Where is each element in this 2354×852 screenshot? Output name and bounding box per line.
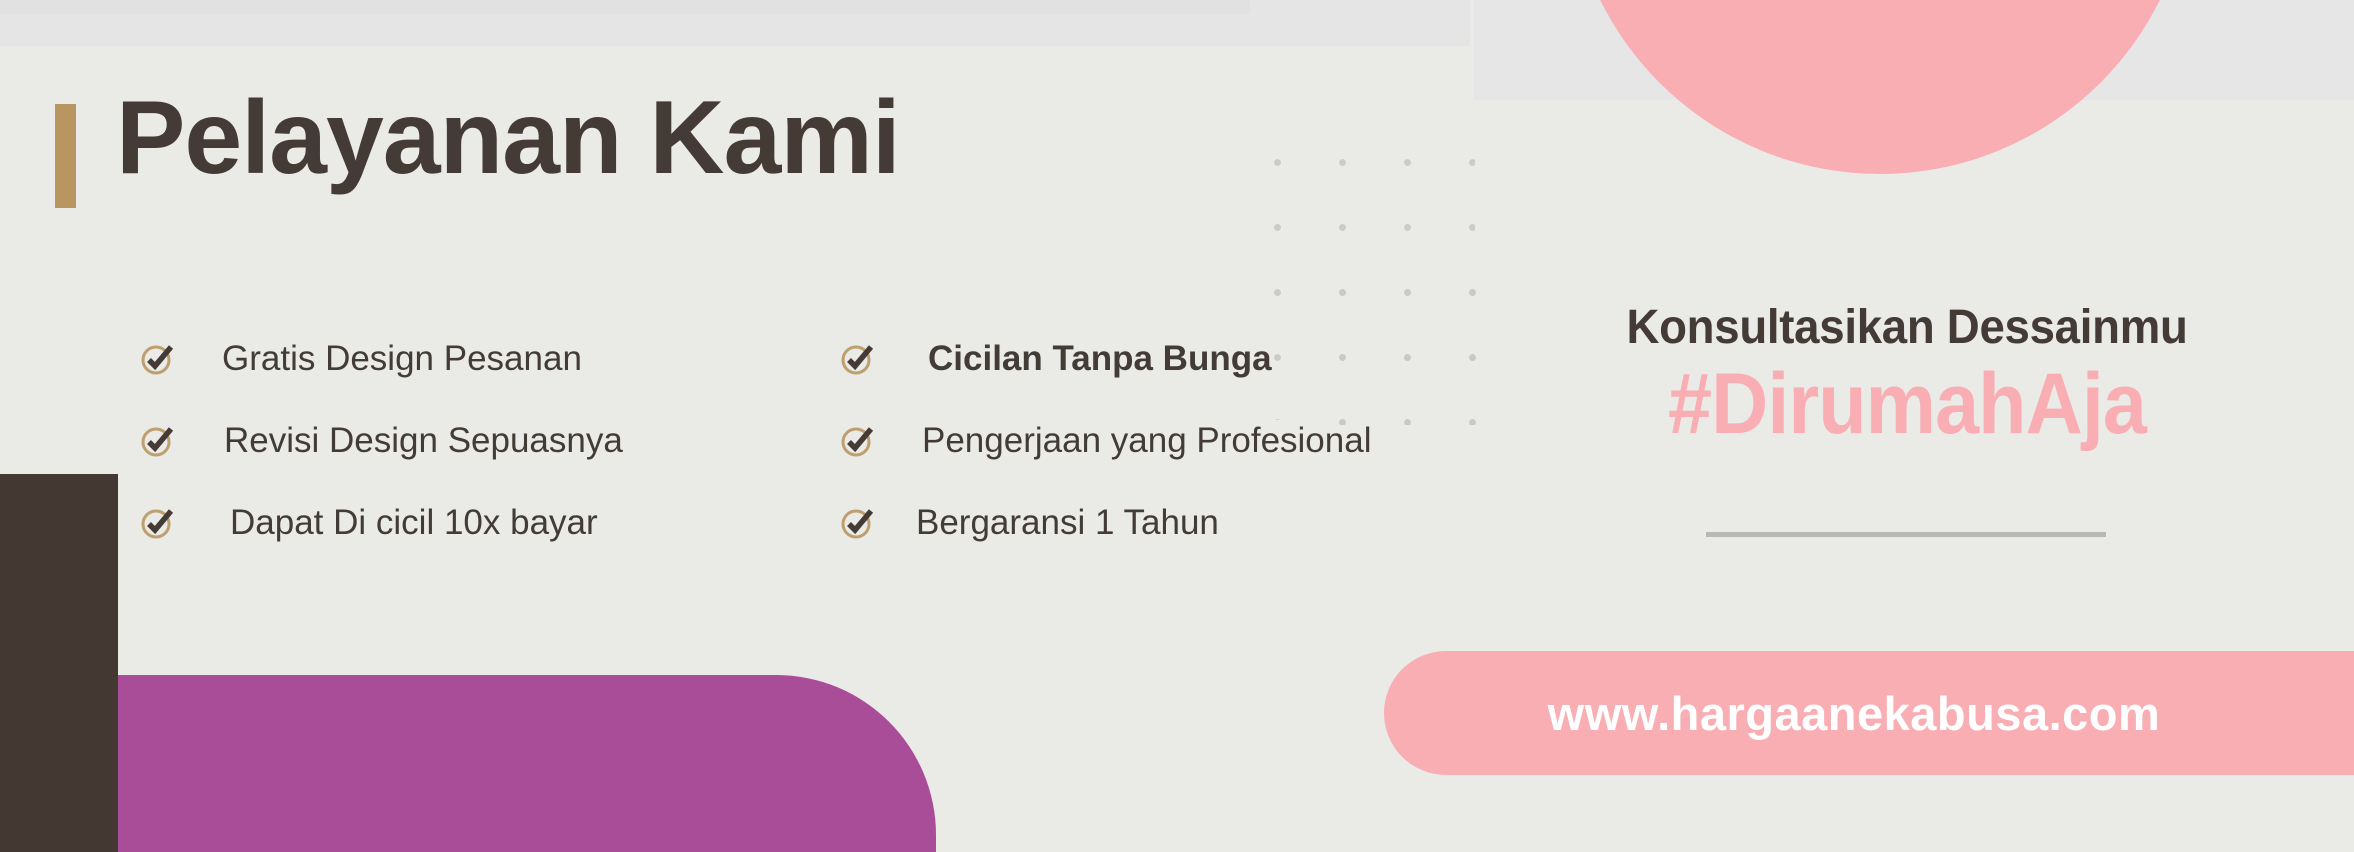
list-item-label: Dapat Di cicil 10x bayar [230, 503, 598, 543]
check-circle-icon [840, 342, 874, 376]
list-item: Cicilan Tanpa Bunga [840, 318, 1480, 400]
title-text: Pelayanan Kami [116, 86, 900, 190]
check-circle-icon [140, 506, 174, 540]
list-item-label: Gratis Design Pesanan [222, 339, 582, 379]
website-ribbon: www.hargaanekabusa.com [1384, 651, 2354, 775]
list-item-label: Revisi Design Sepuasnya [224, 421, 623, 461]
page-title: Pelayanan Kami [55, 86, 900, 208]
list-item: Gratis Design Pesanan [140, 318, 840, 400]
list-item: Dapat Di cicil 10x bayar [140, 482, 840, 564]
title-accent-bar [55, 104, 76, 208]
background-top-strip [0, 0, 1250, 14]
dark-block-decoration [0, 474, 118, 852]
list-item: Revisi Design Sepuasnya [140, 400, 840, 482]
features-left-column: Gratis Design Pesanan Revisi Design Sepu… [140, 318, 840, 564]
features-right-column: Cicilan Tanpa Bunga Pengerjaan yang Prof… [840, 318, 1480, 564]
website-url: www.hargaanekabusa.com [1384, 651, 2354, 775]
list-item: Bergaransi 1 Tahun [840, 482, 1480, 564]
promotional-banner: Pelayanan Kami Gratis Design Pesanan [0, 0, 2354, 852]
promo-underline [1706, 532, 2106, 537]
list-item-label: Bergaransi 1 Tahun [916, 503, 1219, 543]
check-circle-icon [840, 506, 874, 540]
check-circle-icon [140, 342, 174, 376]
promo-headline: Konsultasikan Dessainmu [1482, 300, 2331, 355]
purple-block-decoration [118, 675, 936, 852]
promo-hashtag: #DirumahAja [1496, 361, 2318, 449]
features-section: Gratis Design Pesanan Revisi Design Sepu… [140, 318, 1480, 564]
list-item-label: Cicilan Tanpa Bunga [928, 339, 1272, 379]
promo-section: Konsultasikan Dessainmu #DirumahAja [1460, 300, 2354, 449]
check-circle-icon [840, 424, 874, 458]
list-item-label: Pengerjaan yang Profesional [922, 421, 1371, 461]
check-circle-icon [140, 424, 174, 458]
list-item: Pengerjaan yang Profesional [840, 400, 1480, 482]
